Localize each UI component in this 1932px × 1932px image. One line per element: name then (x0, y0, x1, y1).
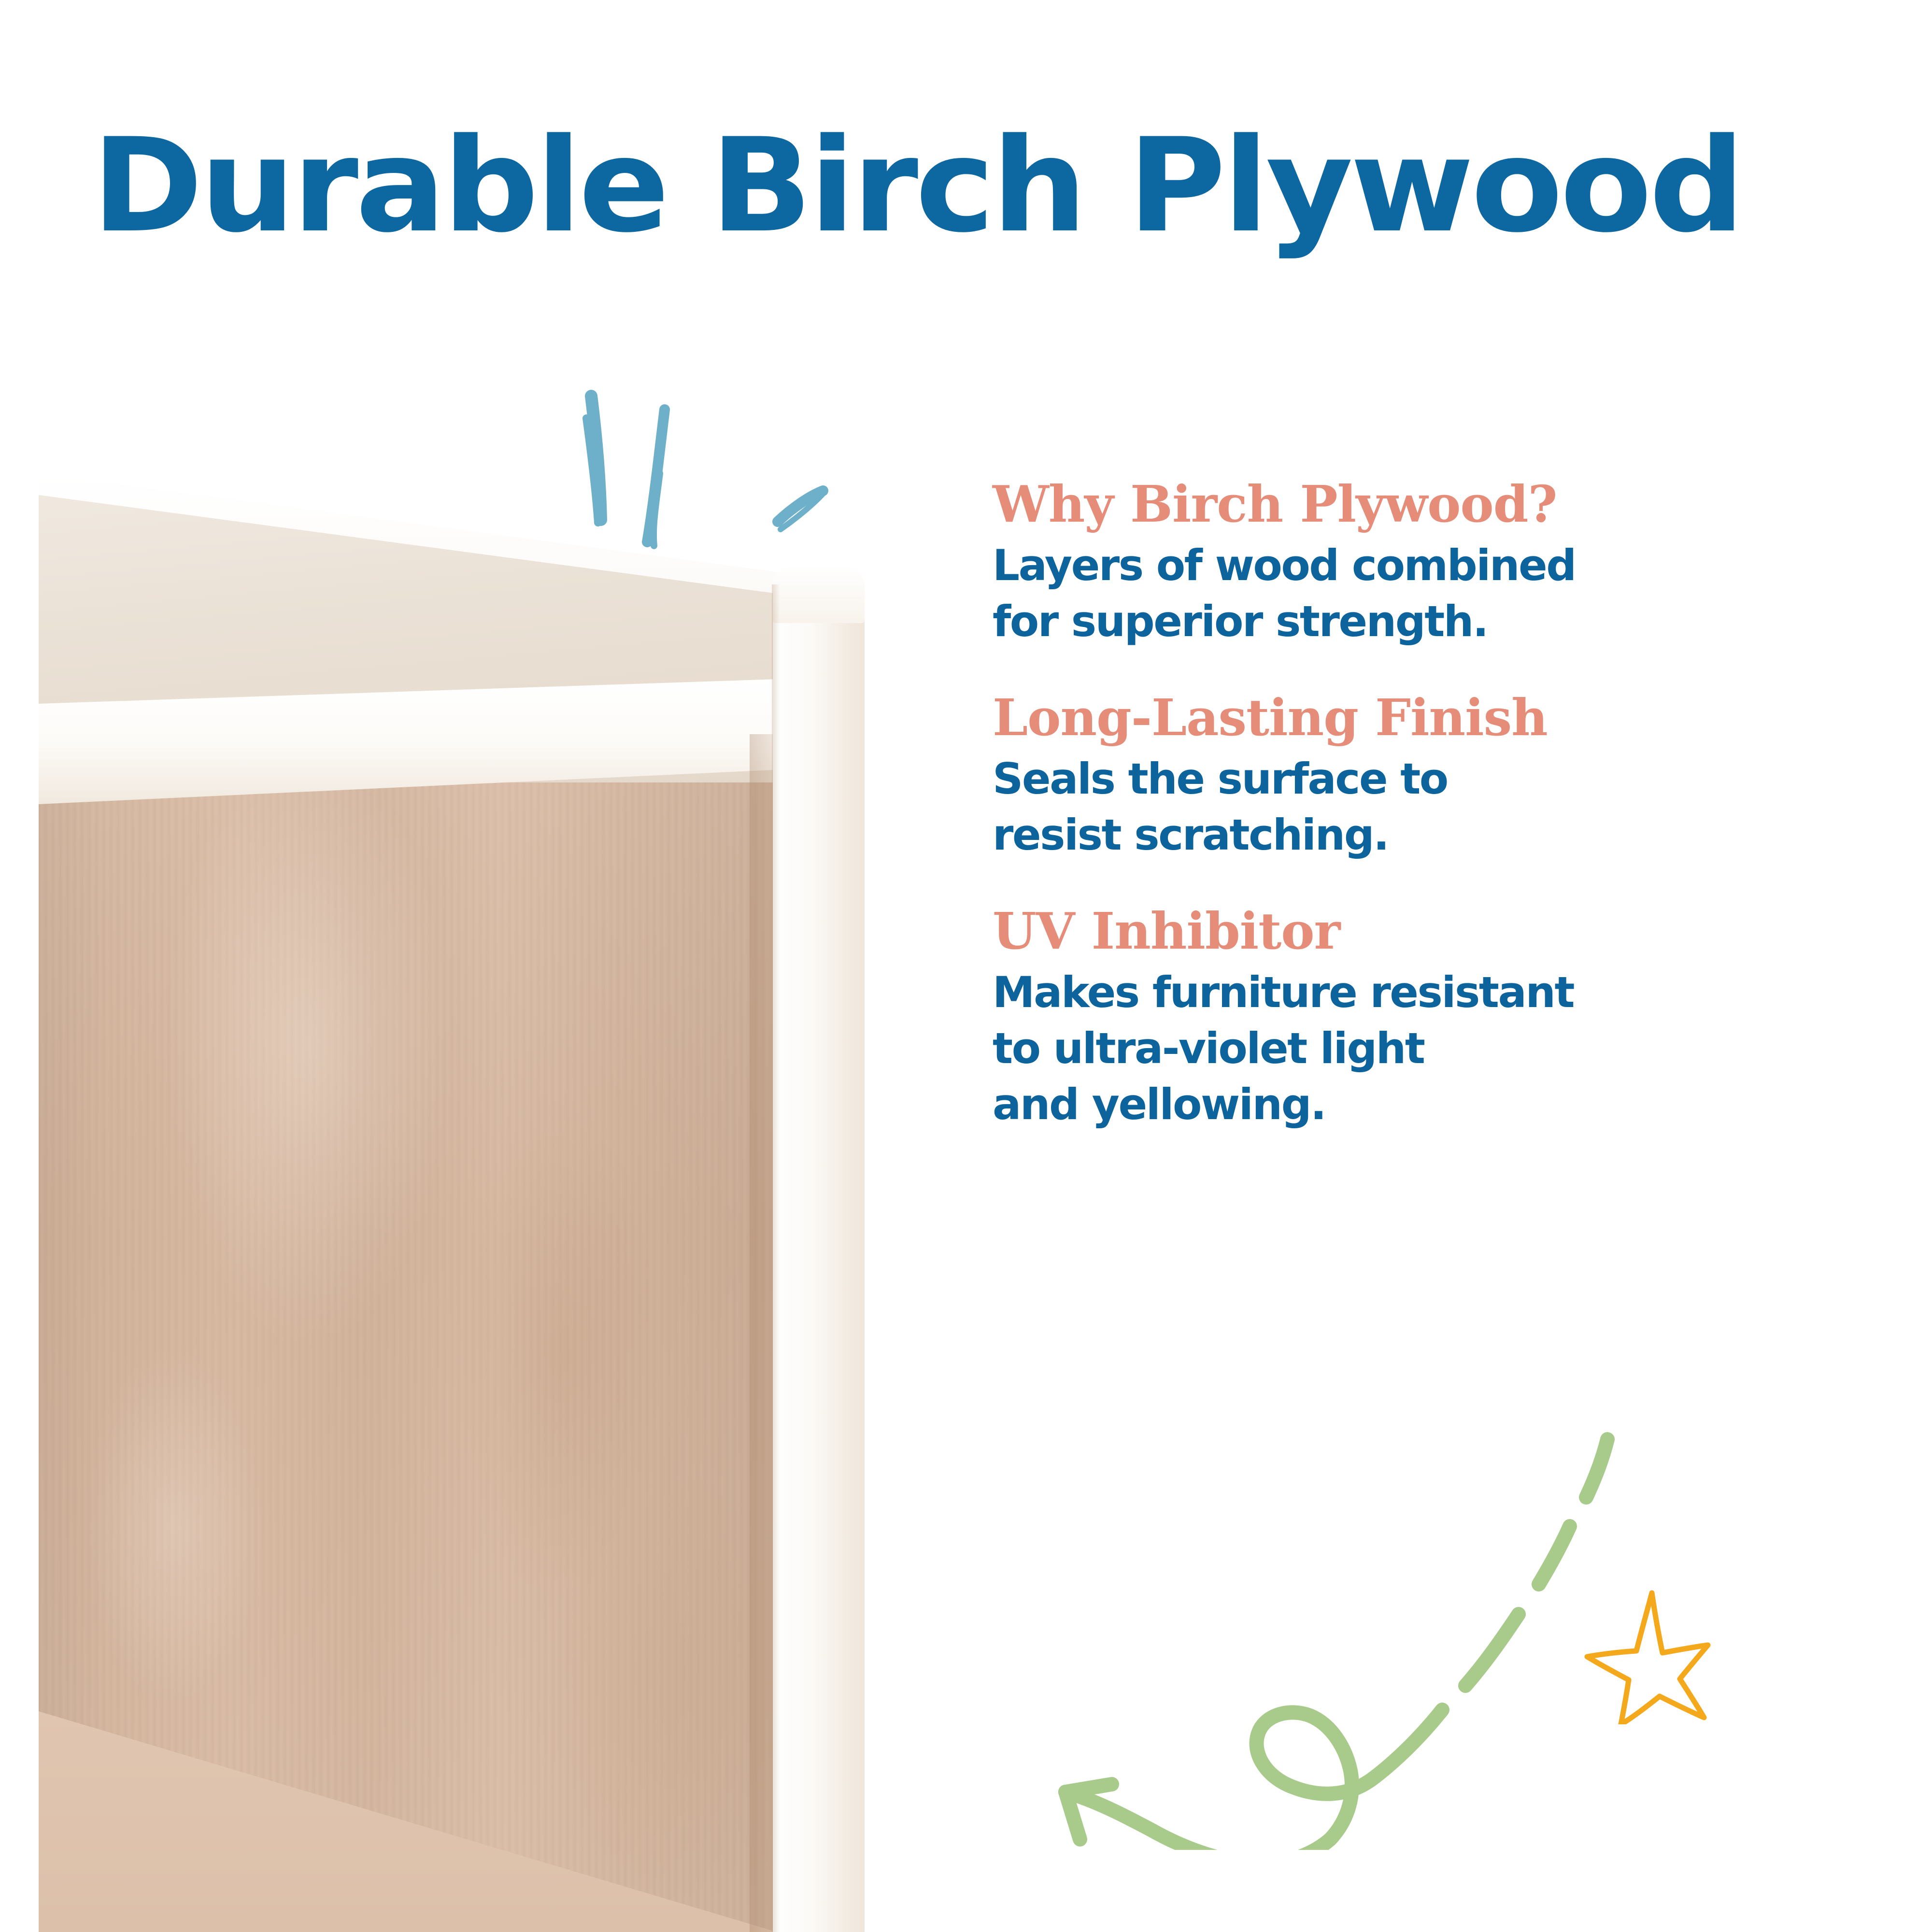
feature-body-line: resist scratching. (993, 807, 1843, 863)
sparkle-strokes-icon (570, 386, 937, 589)
feature-body-line: Layers of wood combined (993, 538, 1843, 594)
cabinet-side-edge (772, 584, 780, 1932)
feature-body-line: to ultra-violet light (993, 1021, 1843, 1077)
feature-heading: Why Birch Plywood? (993, 476, 1843, 533)
cabinet-side-panel (773, 570, 865, 1932)
feature-body-line: Seals the surface to (993, 751, 1843, 807)
feature-block-long-lasting-finish: Long-Lasting Finish Seals the surface to… (993, 689, 1843, 863)
feature-block-uv-inhibitor: UV Inhibitor Makes furniture resistant t… (993, 903, 1843, 1133)
feature-body-line: Makes furniture resistant (993, 965, 1843, 1021)
feature-body-line: and yellowing. (993, 1077, 1843, 1133)
feature-heading: UV Inhibitor (993, 903, 1843, 960)
poster-canvas: Durable Birch Plywood Why Birch Plywood?… (0, 0, 1932, 1932)
feature-body: Layers of wood combined for superior str… (993, 538, 1843, 650)
feature-body: Seals the surface to resist scratching. (993, 751, 1843, 863)
feature-body-line: for superior strength. (993, 594, 1843, 650)
feature-body: Makes furniture resistant to ultra-viole… (993, 965, 1843, 1133)
feature-list: Why Birch Plywood? Layers of wood combin… (993, 476, 1843, 1133)
star-icon (1579, 1584, 1719, 1724)
page-title: Durable Birch Plywood (92, 114, 1917, 258)
product-photo (0, 464, 874, 1932)
feature-block-why-birch-plywood: Why Birch Plywood? Layers of wood combin… (993, 476, 1843, 650)
feature-heading: Long-Lasting Finish (993, 689, 1843, 746)
